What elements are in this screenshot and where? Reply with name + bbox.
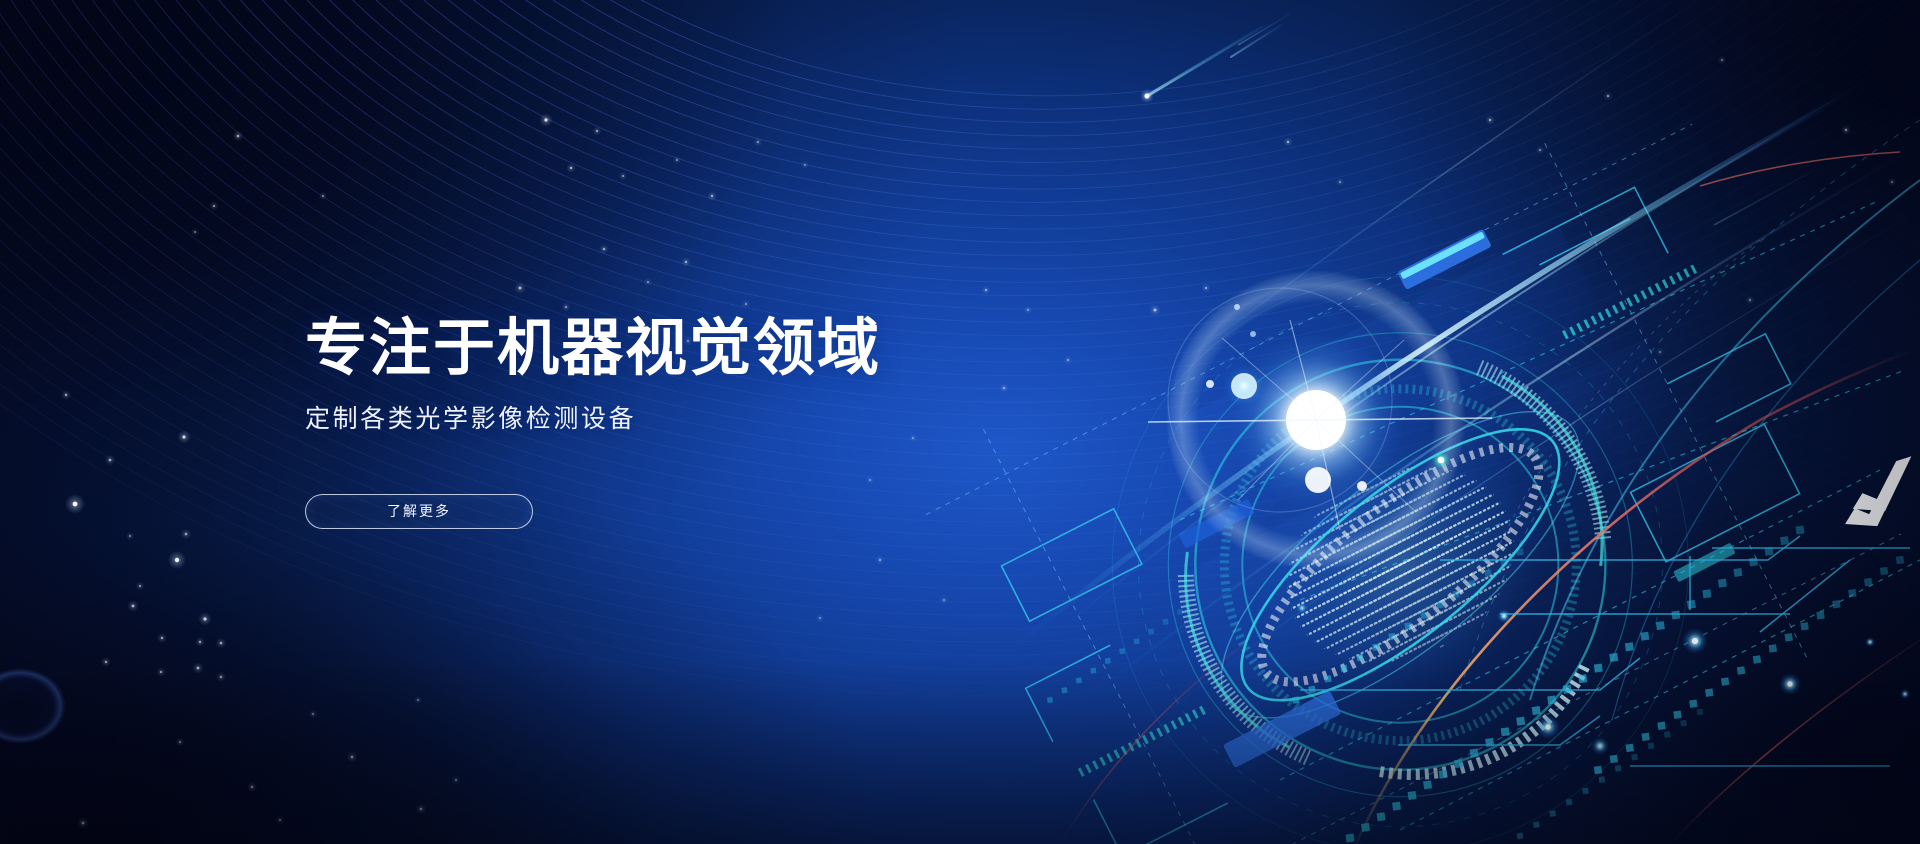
page-subtitle: 定制各类光学影像检测设备 [305, 399, 1065, 435]
page-title: 专注于机器视觉领域 [305, 315, 1065, 381]
hero-banner: 专注于机器视觉领域 定制各类光学影像检测设备 了解更多 [0, 0, 1920, 844]
learn-more-button[interactable]: 了解更多 [305, 494, 533, 529]
hero-content: 专注于机器视觉领域 定制各类光学影像检测设备 了解更多 [305, 315, 1065, 529]
